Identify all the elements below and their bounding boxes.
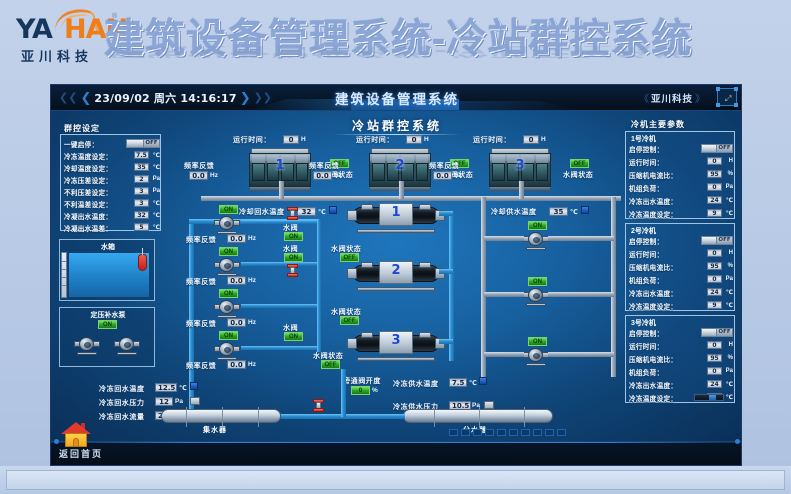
chiller-3-start-stop-toggle[interactable]: OFF	[701, 328, 733, 337]
setting-unit: ℃	[153, 200, 160, 207]
bypass-valve-value: 0	[351, 386, 370, 395]
chiller-parameters-panel: 冷机主要参数 1号冷机 启停控制： OFF 运行时间： 0 H 压缩机电流比： …	[623, 123, 737, 411]
collector-header-tank	[161, 409, 281, 423]
makeup-pump-status: ON	[98, 320, 117, 329]
cooling-tower-1-number: 1	[249, 158, 311, 173]
footer-divider	[51, 442, 742, 443]
setting-row-adverse-dp[interactable]: 不利压差设定： 3 Pa	[64, 186, 160, 197]
cw-pump-2-suction-pipe	[484, 292, 524, 297]
os-taskbar	[0, 466, 791, 494]
row-value: 95	[707, 354, 722, 362]
setting-label: 一键启停：	[64, 139, 98, 149]
page-indicator-7[interactable]	[521, 429, 530, 436]
toggle-state-label: OFF	[716, 145, 732, 152]
row-unit: Pa	[726, 276, 733, 282]
row-value: 95	[707, 170, 722, 178]
setting-unit: ℃	[153, 164, 160, 171]
corner-handle-tl	[716, 87, 720, 91]
header-brand-chip: 《 亚川科技 》	[633, 90, 711, 105]
chw-pump-4-freq-value: 0.0	[227, 360, 246, 369]
chw-vertical-manifold	[317, 220, 321, 352]
row-unit: %	[728, 355, 733, 361]
setting-unit: ℃	[153, 224, 160, 231]
setting-row-cond-out-temp[interactable]: 冷凝出水温度： 32 ℃	[64, 210, 160, 221]
row-label: 机组负荷：	[629, 183, 663, 193]
mid-valve-2-icon[interactable]	[287, 264, 298, 277]
row-value: 0	[707, 157, 722, 165]
setting-label: 冷冻温度设定：	[64, 151, 112, 161]
tower-3-valve-status: OFF	[570, 159, 589, 168]
chiller-3-row-load: 机组负荷： 0 Pa	[629, 366, 733, 377]
row-label: 冷冻出水温度：	[629, 288, 677, 298]
cw-pump-1-status: ON	[528, 221, 547, 230]
cw-pump-3-discharge-pipe	[548, 352, 614, 357]
row-value: 24	[707, 196, 722, 204]
cw-pump-2-status: ON	[528, 277, 547, 286]
row-label: 启停控制：	[629, 144, 663, 154]
chw-pump-2-freq-value: 0.0	[227, 276, 246, 285]
setting-value[interactable]: 5	[134, 223, 149, 231]
setting-label: 不利温差设定：	[64, 199, 112, 209]
row-label: 冷冻温度设定：	[629, 209, 677, 219]
chw-pump-1-status: ON	[219, 205, 238, 214]
pump-2-discharge-pipe	[241, 262, 321, 266]
scada-application-window: ❮❮ ❮ 23/09/02 周六 14:16:17 ❯ ❯❯ 建筑设备管理系统 …	[50, 84, 742, 466]
water-tank-level-fill	[69, 253, 149, 297]
group-control-panel-box: 一键启停： OFF 冷冻温度设定： 7.5 ℃ 冷却温度设定： 35 ℃ 冷冻	[60, 134, 161, 231]
app-footer-bar: 返回首页	[51, 441, 742, 466]
row-unit: ℃	[726, 197, 733, 204]
chiller-2-outlet-pipe	[439, 269, 453, 274]
tower-2-downpipe	[399, 181, 404, 199]
chiller-unit-1[interactable]: 1	[353, 203, 439, 233]
chw-pump-2-status: ON	[219, 247, 238, 256]
cw-pump-1-suction-pipe	[484, 236, 524, 241]
cw-header-pipe-top	[201, 196, 621, 201]
chiller-1-row-load: 机组负荷： 0 Pa	[629, 182, 733, 193]
chiller-unit-2[interactable]: 2	[353, 261, 439, 291]
chw-return-temp-unit: ℃	[179, 384, 187, 392]
row-label: 机组负荷：	[629, 367, 663, 377]
row-value[interactable]: 9	[707, 209, 722, 217]
row-label: 冷冻温度设定：	[629, 301, 677, 311]
row-label: 启停控制：	[629, 236, 663, 246]
cw-return-riser	[611, 197, 616, 377]
tower-1-freq-unit: Hz	[210, 172, 218, 179]
tower-2-runtime-unit: H	[424, 136, 429, 143]
tower-3-runtime-value: 0	[523, 135, 539, 144]
group-control-settings-panel: 群控设定 一键启停： OFF 冷冻温度设定： 7.5 ℃ 冷却温度设定： 35 …	[58, 125, 163, 231]
setting-row-onoff[interactable]: 一键启停： OFF	[64, 138, 160, 149]
page-indicator-5[interactable]	[497, 429, 506, 436]
row-label: 运行时间：	[629, 341, 663, 351]
chw-pump-3-freq-value: 0.0	[227, 318, 246, 327]
bypass-valve-icon[interactable]	[313, 399, 324, 412]
home-icon[interactable]	[61, 422, 91, 448]
chw-supply-temp-label: 冷冻供水温度	[393, 379, 439, 389]
page-indicator-6[interactable]	[509, 429, 518, 436]
cw-pump-3-icon[interactable]	[523, 347, 549, 363]
chw-pump-3-icon[interactable]	[214, 299, 240, 315]
brand-bracket-right-icon: 》	[695, 90, 705, 105]
row-value: 0	[707, 249, 722, 257]
row-value: 0	[707, 275, 722, 283]
logo-text-ya: YA	[16, 14, 52, 45]
tower-1-downpipe	[279, 181, 284, 199]
chw-supply-temp-sensor-icon	[479, 377, 487, 385]
page-indicator-4[interactable]	[485, 429, 494, 436]
chw-pump-3-freq-unit: Hz	[248, 319, 256, 326]
return-home-button[interactable]: 返回首页	[59, 447, 103, 460]
row-label: 启停控制：	[629, 328, 663, 338]
makeup-pump-label: 定压补水泵	[60, 310, 156, 320]
cw-supply-temp-sensor-icon	[581, 206, 589, 214]
row-unit: H	[729, 158, 733, 164]
row-label: 冷冻出水温度：	[629, 196, 677, 206]
page-indicator-10[interactable]	[557, 429, 566, 436]
chw-pump-4-icon[interactable]	[214, 341, 240, 357]
cooling-tower-2-number: 2	[369, 158, 431, 173]
diagram-title-underline	[333, 134, 461, 135]
makeup-pump-2-icon[interactable]	[114, 336, 140, 352]
setting-unit: ℃	[153, 212, 160, 219]
toggle-state-label: OFF	[143, 140, 159, 147]
row-label: 机组负荷：	[629, 275, 663, 285]
collector-label: 集水器	[203, 425, 227, 435]
setting-unit: Pa	[153, 176, 160, 182]
chiller-2-valve-status: OFF	[340, 316, 359, 325]
tower-3-downpipe	[519, 181, 524, 199]
chiller-1-row-out-temp: 冷冻出水温度： 24 ℃	[629, 195, 733, 206]
cw-pump-3-suction-pipe	[484, 352, 524, 357]
tower-1-freq-value: 0.0	[189, 171, 208, 180]
diagram-page-indicators[interactable]	[449, 429, 599, 437]
cw-pump-3-status: ON	[528, 337, 547, 346]
row-value: 95	[707, 262, 722, 270]
setting-unit: ℃	[153, 152, 160, 159]
tower-3-runtime-unit: H	[541, 136, 546, 143]
setting-value[interactable]: 7.5	[134, 151, 149, 159]
corner-handle-tr	[734, 87, 738, 91]
setting-label: 冷却温度设定：	[64, 163, 112, 173]
setting-row-chw-temp[interactable]: 冷冻温度设定： 7.5 ℃	[64, 150, 160, 161]
chiller-parameters-title: 冷机主要参数	[631, 119, 685, 130]
bypass-valve-unit: %	[372, 387, 378, 394]
chiller-2-row-current-ratio: 压缩机电流比： 95 %	[629, 261, 733, 272]
chw-pump-4-status: ON	[219, 331, 238, 340]
chiller-3-row-onoff[interactable]: 启停控制： OFF	[629, 327, 733, 338]
chiller-2-row-runtime: 运行时间： 0 H	[629, 248, 733, 259]
chw-return-flow-label: 冷冻回水流量	[99, 412, 145, 422]
chiller-3-row-out-temp: 冷冻出水温度： 24 ℃	[629, 379, 733, 390]
page-title: 建筑设备管理系统-冷站群控系统	[104, 13, 724, 69]
footer-dot-left	[54, 439, 59, 444]
chiller-2-row-onoff[interactable]: 启停控制： OFF	[629, 235, 733, 246]
row-label: 运行时间：	[629, 157, 663, 167]
footer-dot-right	[735, 439, 740, 444]
bypass-pipe	[341, 369, 346, 417]
chiller-2-row-out-temp: 冷冻出水温度： 24 ℃	[629, 287, 733, 298]
row-value: 0	[707, 367, 722, 375]
chiller-1-row-onoff[interactable]: 启停控制： OFF	[629, 143, 733, 154]
chiller-unit-3[interactable]: 3	[353, 331, 439, 361]
taskbar-tray[interactable]	[6, 470, 785, 490]
chiller-1-number: 1	[379, 205, 413, 220]
pump-4-discharge-pipe	[241, 346, 321, 350]
row-value: 24	[707, 288, 722, 296]
chiller-1-start-stop-toggle[interactable]: OFF	[701, 144, 733, 153]
cw-supply-temp-unit: ℃	[570, 208, 578, 216]
group-control-panel-title: 群控设定	[64, 123, 100, 134]
tower-2-freq-value: 0.0	[313, 171, 332, 180]
makeup-pump-widget: 定压补水泵 ON	[59, 307, 155, 367]
chiller-1-row-current-ratio: 压缩机电流比： 95 %	[629, 169, 733, 180]
tower-3-freq-unit: Hz	[454, 172, 462, 179]
chw-pump-4-freq-unit: Hz	[248, 361, 256, 368]
cw-supply-temp-value: 35	[549, 207, 568, 216]
setting-value[interactable]: 3	[134, 187, 149, 195]
tower-1-runtime-unit: H	[301, 136, 306, 143]
water-tank-widget: 水箱	[59, 239, 155, 301]
chw-return-temp-label: 冷冻回水温度	[99, 384, 145, 394]
row-unit: Pa	[726, 368, 733, 374]
chw-pump-4-freq-label: 频率反馈	[186, 361, 216, 371]
cw-supply-temp-label: 冷却供水温度	[491, 207, 537, 217]
setting-value[interactable]: 35	[134, 163, 149, 171]
tower-1-runtime-value: 0	[283, 135, 299, 144]
chw-pump-2-freq-label: 频率反馈	[186, 277, 216, 287]
one-key-start-stop-toggle[interactable]: OFF	[126, 139, 160, 148]
chiller-1-row-runtime: 运行时间： 0 H	[629, 156, 733, 167]
row-unit: Pa	[726, 184, 733, 190]
page-indicator-2[interactable]	[461, 429, 470, 436]
header-brand-text: 亚川科技	[651, 91, 693, 105]
page-title-reflection: 建筑设备管理系统-冷站群控系统	[106, 46, 726, 58]
row-label: 运行时间：	[629, 249, 663, 259]
chiller-3-parameter-group: 3号冷机 启停控制： OFF 运行时间： 0 H 压缩机电流比： 95 %	[625, 315, 735, 403]
mid-valve-1-status: ON	[284, 232, 303, 241]
chiller-3-row-current-ratio: 压缩机电流比： 95 %	[629, 353, 733, 364]
scada-diagram-canvas: 冷站群控系统 群控设定 一键启停： OFF 冷冻温度设定： 7.5 ℃ 冷却温	[51, 111, 742, 441]
chiller-3-number: 3	[379, 333, 413, 348]
chiller-2-row-temp-setpoint[interactable]: 冷冻温度设定： 9 ℃	[629, 300, 733, 311]
page-indicator-8[interactable]	[533, 429, 542, 436]
setting-label: 冷凝出水温度：	[64, 211, 112, 221]
corner-handle-br	[734, 103, 738, 107]
row-unit: H	[729, 342, 733, 348]
chw-supply-temp-unit: ℃	[469, 379, 477, 387]
tower-3-freq-label: 频率反馈	[429, 161, 459, 171]
chw-return-pres-label: 冷冻回水压力	[99, 398, 145, 408]
cw-return-temp-value: 32	[297, 207, 316, 216]
cw-return-temp-sensor-icon	[329, 206, 337, 214]
tower-2-runtime-value: 0	[406, 135, 422, 144]
chw-return-temp-sensor-icon	[190, 382, 198, 390]
page-indicator-9[interactable]	[545, 429, 554, 436]
tower-1-runtime-label: 运行时间：	[233, 135, 271, 145]
cooling-tower-3-number: 3	[489, 158, 551, 173]
row-label: 冷冻温度设定：	[629, 393, 677, 403]
row-value[interactable]: 9	[707, 301, 722, 309]
cw-supply-riser	[481, 197, 486, 377]
mid-valve-2-status: ON	[284, 253, 303, 262]
setting-label: 冷冻压差设定：	[64, 175, 112, 185]
setting-unit: Pa	[153, 188, 160, 194]
panel-scroll-handle[interactable]	[694, 394, 724, 401]
row-value: 24	[707, 380, 722, 388]
app-header-bar: ❮❮ ❮ 23/09/02 周六 14:16:17 ❯ ❯❯ 建筑设备管理系统 …	[51, 85, 742, 111]
page-indicator-1[interactable]	[449, 429, 458, 436]
chw-pump-1-icon[interactable]	[214, 215, 240, 231]
chiller-2-start-stop-toggle[interactable]: OFF	[701, 236, 733, 245]
toggle-state-label: OFF	[716, 237, 732, 244]
chiller-2-number: 2	[379, 263, 413, 278]
chiller-1-outlet-pipe	[439, 211, 453, 216]
row-unit: H	[729, 250, 733, 256]
chw-return-pres-unit: Pa	[175, 398, 183, 405]
chw-supply-temp-value: 7.5	[449, 378, 467, 387]
cw-pump-1-discharge-pipe	[548, 236, 614, 241]
row-unit: ℃	[726, 210, 733, 217]
chiller-3-outlet-pipe	[439, 339, 453, 344]
maximize-window-button[interactable]: ⤢	[717, 88, 737, 106]
setting-row-cw-temp[interactable]: 冷却温度设定： 35 ℃	[64, 162, 160, 173]
chw-pump-1-freq-value: 0.0	[227, 234, 246, 243]
chw-return-pres-sensor-icon	[190, 397, 200, 405]
chiller-3-row-runtime: 运行时间： 0 H	[629, 340, 733, 351]
tower-1-freq-label: 频率反馈	[184, 161, 214, 171]
row-unit: ℃	[726, 381, 733, 388]
chw-pump-1-freq-unit: Hz	[248, 235, 256, 242]
chw-return-pres-value: 12	[155, 397, 173, 406]
chw-pump-3-freq-label: 频率反馈	[186, 319, 216, 329]
row-unit: ℃	[726, 394, 733, 401]
setting-value[interactable]: 2	[134, 175, 149, 183]
setting-row-cond-out-dt[interactable]: 冷凝出水温差： 5 ℃	[64, 222, 160, 233]
mid-valve-3-status: ON	[284, 332, 303, 341]
corner-handle-bl	[716, 103, 720, 107]
row-unit: %	[728, 171, 733, 177]
setting-label: 冷凝出水温差：	[64, 223, 112, 233]
toggle-state-label: OFF	[716, 329, 732, 336]
chiller-2-row-load: 机组负荷： 0 Pa	[629, 274, 733, 285]
chiller-1-row-temp-setpoint[interactable]: 冷冻温度设定： 9 ℃	[629, 208, 733, 219]
chw-pump-1-freq-label: 频率反馈	[186, 235, 216, 245]
row-unit: ℃	[726, 302, 733, 309]
tower-3-valve-label: 水阀状态	[563, 170, 593, 180]
bypass-valve-label: 旁通阀开度	[343, 376, 381, 386]
row-label: 压缩机电流比：	[629, 170, 677, 180]
cw-return-temp-unit: ℃	[318, 208, 326, 216]
tower-2-runtime-label: 运行时间：	[356, 135, 394, 145]
tower-2-freq-label: 频率反馈	[309, 161, 339, 171]
row-value: 0	[707, 341, 722, 349]
float-switch-icon	[138, 254, 147, 271]
setting-row-chw-dp[interactable]: 冷冻压差设定： 2 Pa	[64, 174, 160, 185]
setting-row-adverse-dt[interactable]: 不利温差设定： 3 ℃	[64, 198, 160, 209]
setting-label: 不利压差设定：	[64, 187, 112, 197]
logo-text-cn: 亚川科技	[21, 46, 93, 65]
chw-pump-2-icon[interactable]	[214, 257, 240, 273]
chw-pump-3-status: ON	[219, 289, 238, 298]
expand-icon: ⤢	[725, 94, 731, 104]
tower-3-freq-value: 0.0	[433, 171, 452, 180]
mid-valve-1-icon[interactable]	[287, 207, 298, 220]
makeup-pump-1-icon[interactable]	[74, 336, 100, 352]
setting-value[interactable]: 3	[134, 199, 149, 207]
tower-2-freq-unit: Hz	[334, 172, 342, 179]
water-level-gauge	[61, 252, 67, 298]
row-label: 冷冻出水温度：	[629, 380, 677, 390]
row-label: 压缩机电流比：	[629, 262, 677, 272]
page-indicator-3[interactable]	[473, 429, 482, 436]
cw-pump-1-icon[interactable]	[523, 231, 549, 247]
cw-pump-2-icon[interactable]	[523, 287, 549, 303]
chiller-2-parameter-group: 2号冷机 启停控制： OFF 运行时间： 0 H 压缩机电流比： 95 %	[625, 223, 735, 311]
chiller-1-parameter-group: 1号冷机 启停控制： OFF 运行时间： 0 H 压缩机电流比： 95 %	[625, 131, 735, 219]
page-header: YA HAN ® 亚川科技 建筑设备管理系统-冷站群控系统 建筑设备管理系统-冷…	[0, 0, 791, 84]
row-unit: ℃	[726, 289, 733, 296]
chw-return-temp-value: 12.5	[155, 383, 177, 392]
row-value: 0	[707, 183, 722, 191]
brand-bracket-left-icon: 《	[639, 90, 649, 105]
pump-3-discharge-pipe	[241, 304, 321, 308]
tower-3-runtime-label: 运行时间：	[473, 135, 511, 145]
chw-supply-pres-sensor-icon	[484, 401, 494, 409]
setting-value[interactable]: 32	[134, 211, 149, 219]
row-label: 压缩机电流比：	[629, 354, 677, 364]
cw-pump-2-discharge-pipe	[548, 292, 614, 297]
cw-return-temp-label: 冷却回水温度	[239, 207, 285, 217]
distributor-header-tank	[403, 409, 553, 423]
chiller-3-valve-status: OFF	[321, 360, 340, 369]
pump-1-discharge-pipe	[241, 220, 321, 224]
chw-pump-2-freq-unit: Hz	[248, 277, 256, 284]
row-unit: %	[728, 263, 733, 269]
